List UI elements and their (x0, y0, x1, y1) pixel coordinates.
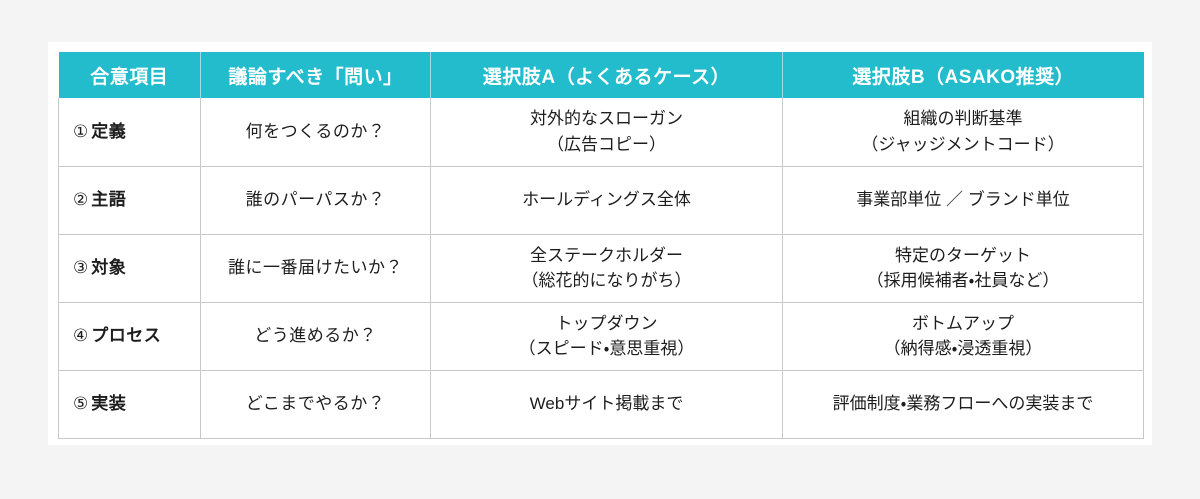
option-a-line1: 全ステークホルダー (530, 246, 683, 265)
table-row: ②主語 誰のパーパスか？ ホールディングス全体 事業部単位 ／ ブランド単位 (59, 166, 1144, 234)
option-b-line1: 評価制度・業務フローへの実装まで (833, 394, 1094, 413)
column-header-agreement-item: 合意項目 (59, 52, 201, 98)
option-b-line2: （ジャッジメントコード） (791, 132, 1135, 158)
option-b-line1: 特定のターゲット (895, 246, 1031, 265)
row-label: 定義 (91, 122, 126, 141)
option-a-line2: （総花的になりがち） (439, 268, 774, 294)
table-header: 合意項目 議論すべき「問い」 選択肢A（よくあるケース） 選択肢B（ASAKO推… (59, 52, 1144, 98)
row-option-a-cell: 全ステークホルダー （総花的になりがち） (431, 234, 783, 302)
option-a-line1: Webサイト掲載まで (530, 394, 684, 413)
table-row: ③対象 誰に一番届けたいか？ 全ステークホルダー （総花的になりがち） 特定のタ… (59, 234, 1144, 302)
option-a-line1: ホールディングス全体 (522, 190, 691, 209)
row-number: ② (73, 190, 88, 209)
row-question-cell: 誰のパーパスか？ (201, 166, 431, 234)
row-option-a-cell: ホールディングス全体 (431, 166, 783, 234)
page-canvas: 合意項目 議論すべき「問い」 選択肢A（よくあるケース） 選択肢B（ASAKO推… (0, 0, 1200, 499)
column-header-option-a: 選択肢A（よくあるケース） (431, 52, 783, 98)
option-a-line1: トップダウン (556, 314, 658, 333)
option-b-line2: （採用候補者・社員など） (791, 268, 1135, 294)
row-option-b-cell: 評価制度・業務フローへの実装まで (783, 370, 1144, 438)
row-option-b-cell: 組織の判断基準 （ジャッジメントコード） (783, 98, 1144, 166)
row-number: ③ (73, 258, 88, 277)
row-label-cell: ②主語 (59, 166, 201, 234)
row-option-b-cell: 特定のターゲット （採用候補者・社員など） (783, 234, 1144, 302)
row-label: 主語 (91, 190, 126, 209)
agreement-items-table: 合意項目 議論すべき「問い」 選択肢A（よくあるケース） 選択肢B（ASAKO推… (58, 52, 1144, 439)
option-a-line2: （スピード・意思重視） (439, 336, 774, 362)
row-label-cell: ①定義 (59, 98, 201, 166)
table-header-row: 合意項目 議論すべき「問い」 選択肢A（よくあるケース） 選択肢B（ASAKO推… (59, 52, 1144, 98)
table-row: ①定義 何をつくるのか？ 対外的なスローガン （広告コピー） 組織の判断基準 （… (59, 98, 1144, 166)
row-number: ④ (73, 326, 88, 345)
option-b-line1: 組織の判断基準 (904, 109, 1023, 128)
row-option-a-cell: 対外的なスローガン （広告コピー） (431, 98, 783, 166)
row-number: ⑤ (73, 394, 88, 413)
option-b-line1: ボトムアップ (912, 314, 1014, 333)
column-header-option-b: 選択肢B（ASAKO推奨） (783, 52, 1144, 98)
row-question-cell: どう進めるか？ (201, 302, 431, 370)
row-question-cell: どこまでやるか？ (201, 370, 431, 438)
table-body: ①定義 何をつくるのか？ 対外的なスローガン （広告コピー） 組織の判断基準 （… (59, 98, 1144, 438)
row-label: 実装 (91, 394, 126, 413)
table-row: ⑤実装 どこまでやるか？ Webサイト掲載まで 評価制度・業務フローへの実装まで (59, 370, 1144, 438)
row-option-a-cell: Webサイト掲載まで (431, 370, 783, 438)
row-question-cell: 何をつくるのか？ (201, 98, 431, 166)
row-label-cell: ④プロセス (59, 302, 201, 370)
row-option-a-cell: トップダウン （スピード・意思重視） (431, 302, 783, 370)
option-a-line1: 対外的なスローガン (530, 109, 683, 128)
row-option-b-cell: ボトムアップ （納得感・浸透重視） (783, 302, 1144, 370)
option-a-line2: （広告コピー） (439, 132, 774, 158)
row-question-cell: 誰に一番届けたいか？ (201, 234, 431, 302)
option-b-line1: 事業部単位 ／ ブランド単位 (856, 190, 1069, 209)
row-label-cell: ③対象 (59, 234, 201, 302)
row-number: ① (73, 122, 88, 141)
row-option-b-cell: 事業部単位 ／ ブランド単位 (783, 166, 1144, 234)
row-label: 対象 (91, 258, 126, 277)
option-b-line2: （納得感・浸透重視） (791, 336, 1135, 362)
row-label-cell: ⑤実装 (59, 370, 201, 438)
table-row: ④プロセス どう進めるか？ トップダウン （スピード・意思重視） ボトムアップ … (59, 302, 1144, 370)
column-header-question: 議論すべき「問い」 (201, 52, 431, 98)
row-label: プロセス (91, 326, 161, 345)
